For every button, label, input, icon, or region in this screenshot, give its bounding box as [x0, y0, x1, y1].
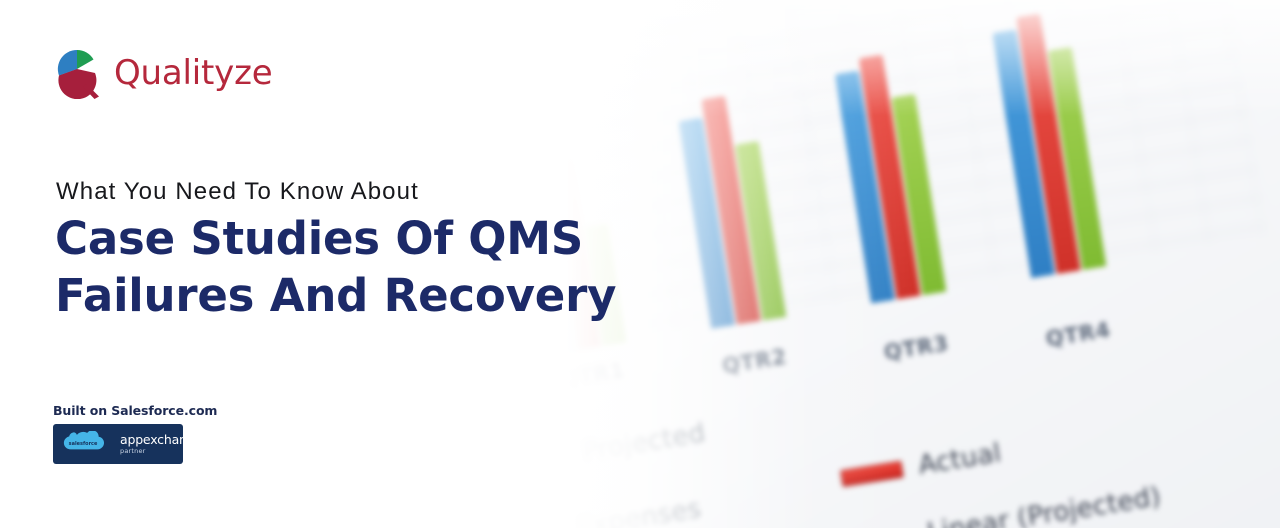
hero-eyebrow: What You Need To Know About [56, 178, 419, 206]
salesforce-caption: Built on Salesforce.com [53, 403, 217, 418]
blog-hero-banner: QTR1 QTR2 QTR3 QTR4 Projected Expenses A… [0, 0, 1280, 528]
legend-item-linear-projected: Linear (Projected) [836, 482, 1163, 528]
bar-group-qtr3 [828, 13, 990, 303]
legend-label-actual: Actual [916, 438, 1003, 481]
qualityze-q-logo-icon [52, 47, 102, 99]
bar-group-qtr2 [668, 38, 830, 328]
salesforce-badge-block: Built on Salesforce.com salesforce appex… [53, 403, 217, 464]
page-title-line-2: Failures And Recovery [55, 267, 616, 324]
legend-item-actual: Actual [839, 438, 1003, 493]
badge-subtitle: partner [120, 448, 202, 455]
brand-wordmark: Qualityze [114, 53, 272, 93]
legend-label-linear-projected: Linear (Projected) [925, 482, 1163, 528]
axis-label-qtr4: QTR4 [1044, 317, 1112, 351]
badge-title: appexchange [120, 434, 202, 447]
legend-swatch-actual [840, 460, 904, 486]
appexchange-partner-badge[interactable]: salesforce appexchange partner [53, 424, 183, 464]
svg-text:salesforce: salesforce [69, 441, 98, 447]
page-title: Case Studies Of QMS Failures And Recover… [55, 210, 616, 324]
axis-label-qtr2: QTR2 [720, 344, 788, 378]
badge-text: appexchange partner [120, 434, 202, 455]
salesforce-cloud-logo: salesforce [60, 431, 106, 457]
hero-content: Qualityze What You Need To Know About Ca… [0, 0, 640, 528]
axis-label-qtr3: QTR3 [882, 331, 950, 365]
page-title-line-1: Case Studies Of QMS [55, 210, 616, 267]
bar-group-qtr4 [988, 0, 1150, 278]
brand-logo[interactable]: Qualityze [52, 47, 272, 99]
